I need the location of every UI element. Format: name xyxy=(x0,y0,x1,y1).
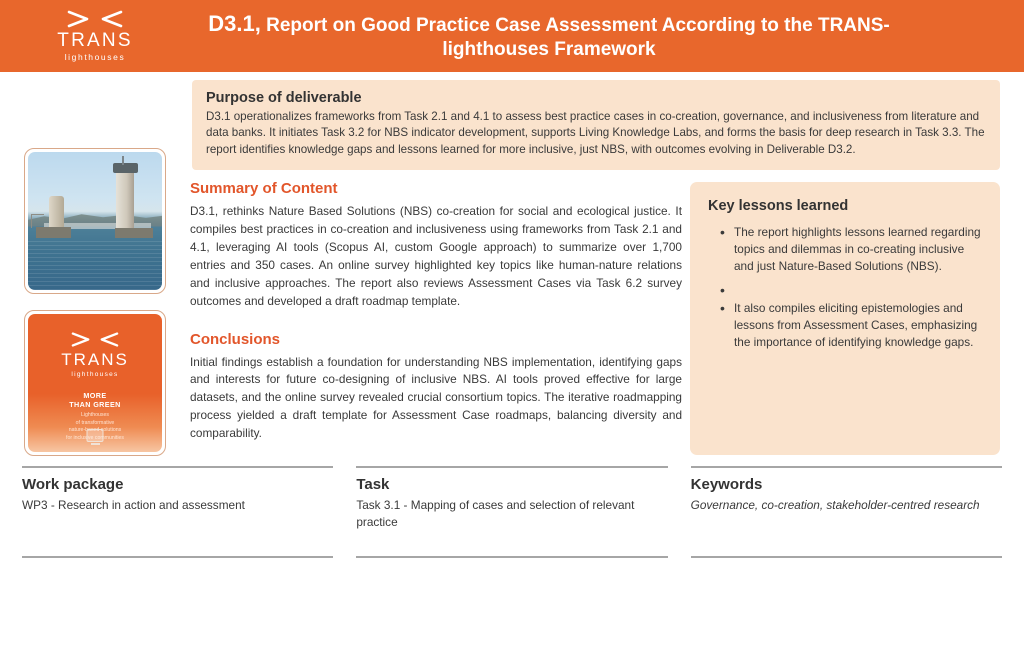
metadata-row: Work package WP3 - Research in action an… xyxy=(0,466,1024,558)
cover-brand-name: TRANS xyxy=(61,351,129,370)
page-title: D3.1, Report on Good Practice Case Asses… xyxy=(190,10,1024,63)
lion-statue-shape xyxy=(49,196,64,229)
keywords-value: Governance, co-creation, stakeholder-cen… xyxy=(691,497,1002,514)
work-package-title: Work package xyxy=(22,476,333,493)
list-item: It also compiles eliciting epistemologie… xyxy=(720,300,982,350)
task-title: Task xyxy=(356,476,667,493)
conclusions-body: Initial findings establish a foundation … xyxy=(190,354,682,444)
list-item xyxy=(720,282,982,292)
report-cover-art: TRANS lighthouses MORE THAN GREEN Lighth… xyxy=(28,314,162,452)
report-cover-thumbnail: TRANS lighthouses MORE THAN GREEN Lighth… xyxy=(24,310,166,456)
lighthouse-tower-shape xyxy=(116,171,133,232)
deliverable-title: Report on Good Practice Case Assessment … xyxy=(261,15,890,60)
keywords-title: Keywords xyxy=(691,476,1002,493)
purpose-body: D3.1 operationalizes frameworks from Tas… xyxy=(206,109,986,158)
eu-emblem-icon xyxy=(87,429,104,442)
brand-name: TRANS xyxy=(57,31,132,51)
lessons-title: Key lessons learned xyxy=(708,198,982,214)
water-reflection-shape xyxy=(28,238,162,290)
harbour-photo-art xyxy=(28,152,162,290)
lessons-list: The report highlights lessons learned re… xyxy=(708,224,982,351)
conclusions-heading: Conclusions xyxy=(190,331,682,348)
deliverable-id: D3.1, xyxy=(208,11,261,36)
right-pier-shape xyxy=(115,228,153,238)
list-item: The report highlights lessons learned re… xyxy=(720,224,982,274)
cover-brand-subtitle: lighthouses xyxy=(71,371,118,378)
key-lessons-learned-panel: Key lessons learned The report highlight… xyxy=(690,182,1000,455)
cover-tagline-line2: THAN GREEN xyxy=(69,400,121,410)
cover-tagline-line1: MORE xyxy=(83,391,106,401)
chevrons-inward-icon xyxy=(65,9,125,29)
summary-heading: Summary of Content xyxy=(190,180,682,197)
summary-body: D3.1, rethinks Nature Based Solutions (N… xyxy=(190,203,682,311)
trans-lighthouses-logo: TRANS lighthouses xyxy=(0,7,190,65)
chevrons-inward-icon xyxy=(68,331,122,348)
keywords-column: Keywords Governance, co-creation, stakeh… xyxy=(691,466,1002,558)
task-column: Task Task 3.1 - Mapping of cases and sel… xyxy=(356,466,667,558)
work-package-column: Work package WP3 - Research in action an… xyxy=(22,466,333,558)
main-text-column: Summary of Content D3.1, rethinks Nature… xyxy=(190,180,682,443)
task-value: Task 3.1 - Mapping of cases and selectio… xyxy=(356,497,667,531)
brand-subtitle: lighthouses xyxy=(65,51,126,65)
left-pier-shape xyxy=(36,227,71,238)
page-header: TRANS lighthouses D3.1, Report on Good P… xyxy=(0,0,1024,72)
section-spacer xyxy=(190,311,682,331)
work-package-value: WP3 - Research in action and assessment xyxy=(22,497,333,514)
purpose-title: Purpose of deliverable xyxy=(206,90,986,106)
harbour-lighthouse-photo xyxy=(24,148,166,294)
purpose-of-deliverable-panel: Purpose of deliverable D3.1 operationali… xyxy=(192,80,1000,170)
